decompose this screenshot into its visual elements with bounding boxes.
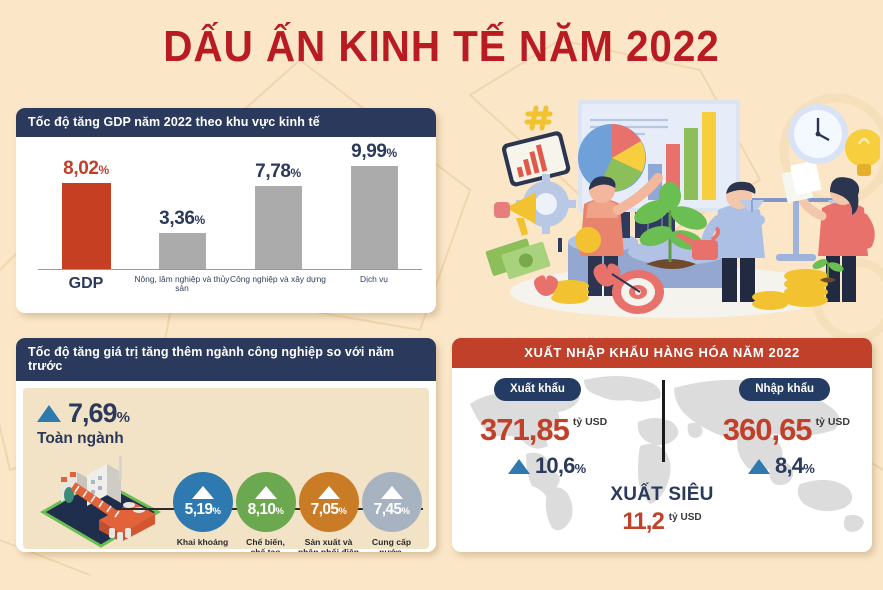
export-unit: tỷ USD: [573, 416, 607, 428]
import-growth: 8,4%: [748, 453, 814, 479]
industry-circle: 5,19%: [173, 472, 233, 532]
industry-circle-item: 8,10%Chế biến,chế tạo: [234, 472, 297, 552]
industry-circle-item: 5,19%Khai khoáng: [171, 472, 234, 552]
import-pill: Nhập khẩu: [739, 378, 830, 401]
trade-panel-header: XUẤT NHẬP KHẨU HÀNG HÓA NĂM 2022: [452, 338, 872, 368]
export-growth: 10,6%: [508, 453, 585, 479]
bar-rect: [351, 166, 398, 269]
bar-column: 3,36%: [134, 141, 230, 269]
bar-value-label: 3,36%: [159, 208, 205, 230]
category-label: Dịch vụ: [326, 275, 422, 293]
industry-circle-label: Cung cấp nước,quản lý và xử lýrác thải, …: [360, 537, 423, 552]
factory-illustration: [33, 450, 168, 550]
bar-rect: [159, 233, 206, 269]
gdp-category-labels: GDPNông, lâm nghiệp và thủy sảnCông nghi…: [38, 275, 422, 293]
import-value: 360,65 tỷ USD: [723, 414, 850, 445]
up-triangle-icon: [748, 459, 770, 474]
industry-circle: 7,05%: [299, 472, 359, 532]
surplus-label: XUẤT SIÊU: [452, 484, 872, 506]
industry-circle-item: 7,45%Cung cấp nước,quản lý và xử lýrác t…: [360, 472, 423, 552]
industry-total-row: 7,69%: [37, 398, 129, 429]
infographic-page: { "title": "DẤU ẤN KINH TẾ NĂM 2022", "c…: [0, 0, 883, 590]
bar-value-label: 8,02%: [63, 158, 109, 180]
industry-circle-value: 7,05%: [311, 501, 347, 519]
economy-illustration: [470, 92, 880, 327]
up-triangle-icon: [318, 486, 340, 499]
industry-circle-value: 7,45%: [374, 501, 410, 519]
gdp-bars: 8,02%3,36%7,78%9,99%: [38, 141, 422, 269]
gdp-growth-panel: Tốc độ tăng GDP năm 2022 theo khu vực ki…: [16, 108, 436, 313]
bar-rect: [62, 183, 111, 269]
industry-total-value: 7,69%: [68, 398, 129, 429]
up-triangle-icon: [255, 486, 277, 499]
up-triangle-icon: [37, 405, 61, 422]
industry-circle-value: 8,10%: [248, 501, 284, 519]
page-title: DẤU ẤN KINH TẾ NĂM 2022: [35, 22, 847, 72]
bar-value-label: 7,78%: [255, 161, 301, 183]
import-growth-value: 8,4%: [775, 453, 814, 479]
bar-column: 9,99%: [326, 141, 422, 269]
category-label: GDP: [38, 275, 134, 293]
industry-panel-header: Tốc độ tăng giá trị tăng thêm ngành công…: [16, 338, 436, 381]
bar-column: 8,02%: [38, 141, 134, 269]
import-unit: tỷ USD: [816, 416, 850, 428]
center-divider: [662, 380, 665, 462]
export-growth-value: 10,6%: [535, 453, 585, 479]
up-triangle-icon: [508, 459, 530, 474]
industry-circle-list: 5,19%Khai khoáng8,10%Chế biến,chế tạo7,0…: [171, 472, 423, 552]
industry-circle-value: 5,19%: [185, 501, 221, 519]
surplus-row: 11,2 tỷ USD: [452, 508, 872, 536]
gdp-bar-chart: 8,02%3,36%7,78%9,99% GDPNông, lâm nghiệp…: [16, 137, 436, 297]
industry-total-label: Toàn ngành: [37, 430, 129, 448]
bar-rect: [255, 186, 302, 269]
trade-surplus: XUẤT SIÊU 11,2 tỷ USD: [452, 484, 872, 536]
export-pill: Xuất khẩu: [494, 378, 581, 401]
industry-circle-label: Chế biến,chế tạo: [246, 537, 285, 552]
import-number: 360,65: [723, 414, 812, 445]
bar-value-label: 9,99%: [351, 141, 397, 163]
industry-growth-panel: Tốc độ tăng giá trị tăng thêm ngành công…: [16, 338, 436, 552]
surplus-unit: tỷ USD: [669, 512, 702, 523]
industry-circle: 7,45%: [362, 472, 422, 532]
up-triangle-icon: [192, 486, 214, 499]
export-number: 371,85: [480, 414, 569, 445]
surplus-value: 11,2: [622, 508, 663, 536]
industry-circle: 8,10%: [236, 472, 296, 532]
export-value: 371,85 tỷ USD: [480, 414, 607, 445]
up-triangle-icon: [381, 486, 403, 499]
trade-panel: XUẤT NHẬP KHẨU HÀNG HÓA NĂM 2022 Xuất kh…: [452, 338, 872, 552]
industry-inner-card: 7,69% Toàn ngành: [23, 388, 429, 549]
gdp-panel-header: Tốc độ tăng GDP năm 2022 theo khu vực ki…: [16, 108, 436, 137]
category-label: Công nghiệp và xây dựng: [230, 275, 326, 293]
category-label: Nông, lâm nghiệp và thủy sản: [134, 275, 230, 293]
industry-circle-label: Khai khoáng: [177, 537, 229, 547]
industry-circle-item: 7,05%Sản xuất vàphân phối điện: [297, 472, 360, 552]
industry-total: 7,69% Toàn ngành: [37, 398, 129, 448]
industry-panel-body: 7,69% Toàn ngành: [16, 381, 436, 552]
industry-circle-label: Sản xuất vàphân phối điện: [298, 537, 359, 552]
bar-column: 7,78%: [230, 141, 326, 269]
trade-panel-body: Xuất khẩu Nhập khẩu 371,85 tỷ USD 360,65…: [452, 368, 872, 543]
chart-axis-line: [38, 269, 422, 271]
